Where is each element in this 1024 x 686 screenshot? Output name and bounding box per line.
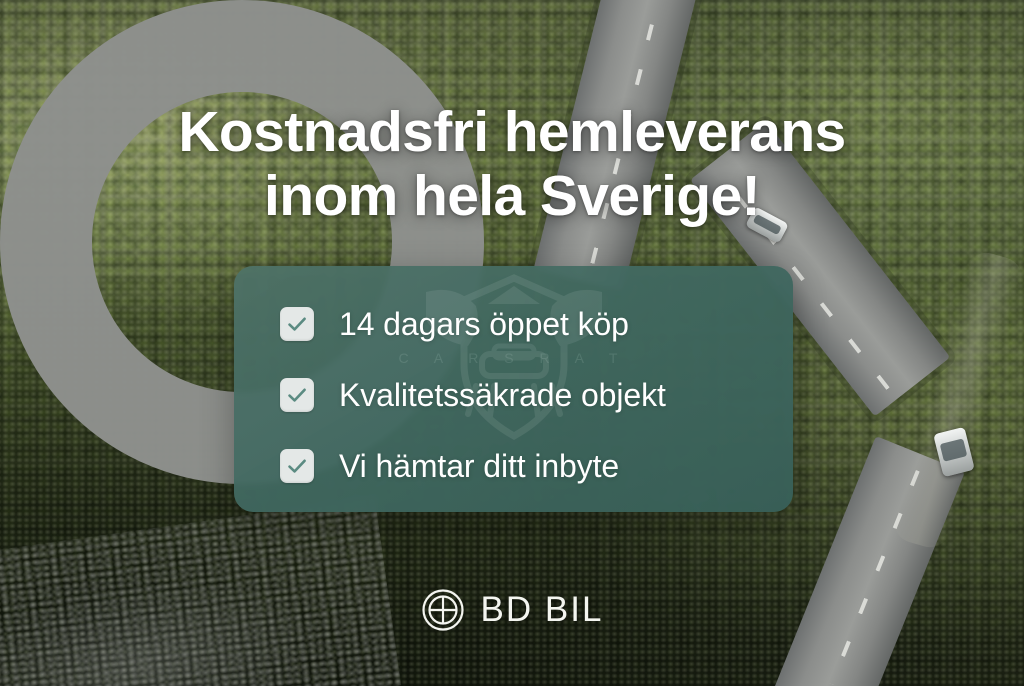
feature-label: Vi hämtar ditt inbyte (339, 448, 619, 485)
feature-label: Kvalitetssäkrade objekt (339, 377, 666, 414)
brand-name: BD BIL (481, 590, 604, 630)
headline-line-2: inom hela Sverige! (40, 164, 984, 228)
checkbox-checked-icon[interactable] (280, 378, 314, 412)
features-card: C A R S R A T 14 dagars öppet köp Kvalit… (234, 266, 793, 512)
checkbox-checked-icon[interactable] (280, 449, 314, 483)
brand-logo[interactable]: BD BIL (0, 588, 1024, 632)
checkbox-checked-icon[interactable] (280, 307, 314, 341)
list-item: 14 dagars öppet köp (280, 292, 773, 356)
promo-banner: Kostnadsfri hemleverans inom hela Sverig… (0, 0, 1024, 686)
list-item: Vi hämtar ditt inbyte (280, 434, 773, 498)
list-item: Kvalitetssäkrade objekt (280, 363, 773, 427)
headline-line-1: Kostnadsfri hemleverans (178, 100, 845, 164)
bd-bil-circle-monogram-icon (421, 588, 465, 632)
page-title: Kostnadsfri hemleverans inom hela Sverig… (0, 100, 1024, 228)
feature-list: 14 dagars öppet köp Kvalitetssäkrade obj… (280, 292, 773, 505)
feature-label: 14 dagars öppet köp (339, 306, 629, 343)
